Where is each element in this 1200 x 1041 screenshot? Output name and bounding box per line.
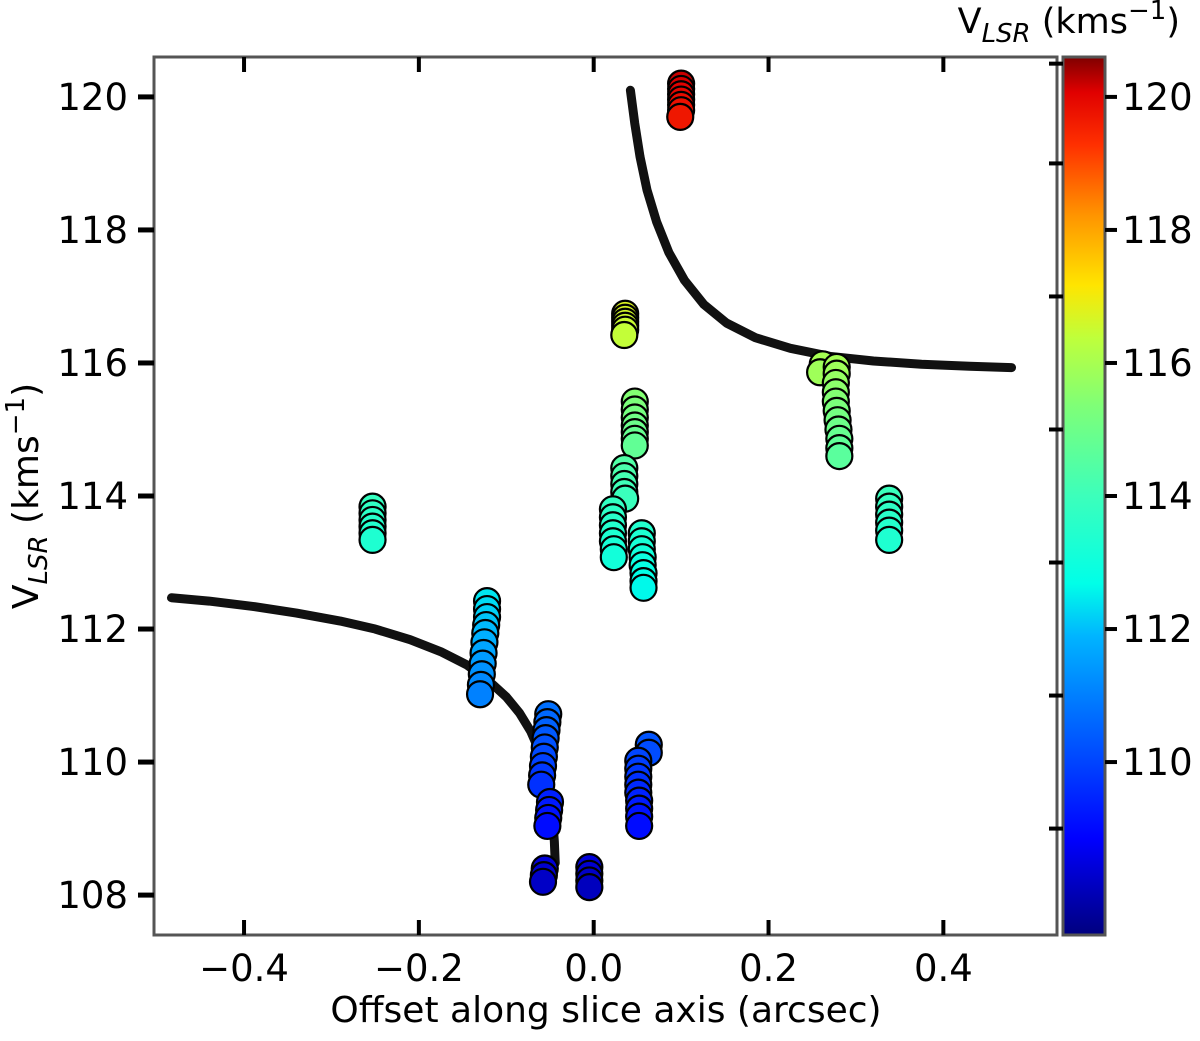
x-tick-label: −0.2	[374, 947, 464, 990]
colorbar-title-exp: −1	[1128, 0, 1166, 26]
y-axis-label-unit: (kms	[6, 435, 47, 535]
figure-container: −0.4−0.20.00.20.4 108110112114116118120 …	[0, 0, 1200, 1041]
colorbar-tick-label: 118	[1122, 209, 1193, 252]
y-axis-label-close: )	[6, 383, 47, 397]
scatter-point	[876, 527, 902, 553]
colorbar-tick-label: 116	[1122, 342, 1193, 385]
colorbar-tick-label: 120	[1122, 76, 1193, 119]
x-axis-label: Offset along slice axis (arcsec)	[330, 990, 881, 1031]
scatter-point	[631, 575, 657, 601]
colorbar-title: VLSR (kms−1)	[958, 0, 1180, 49]
colorbar-title-sub: LSR	[982, 19, 1031, 49]
x-tick-label: 0.2	[739, 947, 798, 990]
y-tick-label: 120	[57, 76, 128, 119]
colorbar-tick-label: 114	[1122, 475, 1193, 518]
colorbar-title-unit: (kms	[1031, 2, 1128, 42]
y-tick-label: 112	[57, 608, 128, 651]
y-axis-label-exp: −1	[1, 397, 31, 435]
scatter-point	[667, 104, 693, 130]
y-tick-label: 118	[57, 209, 128, 252]
y-axis-label-sub: LSR	[24, 535, 54, 584]
plot-area-background	[154, 57, 1057, 935]
scatter-point	[626, 813, 652, 839]
x-tick-label: 0.0	[564, 947, 623, 990]
colorbar-title-v: V	[958, 2, 982, 42]
y-tick-label: 110	[57, 741, 128, 784]
y-axis-label: VLSR (kms−1)	[1, 383, 54, 609]
scatter-point	[611, 322, 637, 348]
colorbar-gradient	[1063, 57, 1105, 935]
y-tick-label: 114	[57, 475, 128, 518]
x-tick-label: −0.4	[199, 947, 289, 990]
scatter-point	[530, 869, 556, 895]
x-tick-label: 0.4	[914, 947, 973, 990]
scatter-point	[601, 544, 627, 570]
y-axis-label-v: V	[6, 584, 47, 609]
scatter-point	[826, 443, 852, 469]
scatter-plot-svg: −0.4−0.20.00.20.4 108110112114116118120 …	[0, 0, 1200, 1041]
scatter-point	[467, 681, 493, 707]
y-axis-ticks: 108110112114116118120	[57, 76, 154, 917]
svg-text:VLSR (kms−1): VLSR (kms−1)	[1, 383, 54, 609]
colorbar-tick-label: 112	[1122, 608, 1193, 651]
y-tick-label: 108	[57, 874, 128, 917]
scatter-point	[534, 813, 560, 839]
scatter-point	[576, 874, 602, 900]
y-tick-label: 116	[57, 342, 128, 385]
scatter-point	[360, 527, 386, 553]
colorbar-title-close: )	[1166, 2, 1180, 42]
colorbar-tick-label: 110	[1122, 741, 1193, 784]
